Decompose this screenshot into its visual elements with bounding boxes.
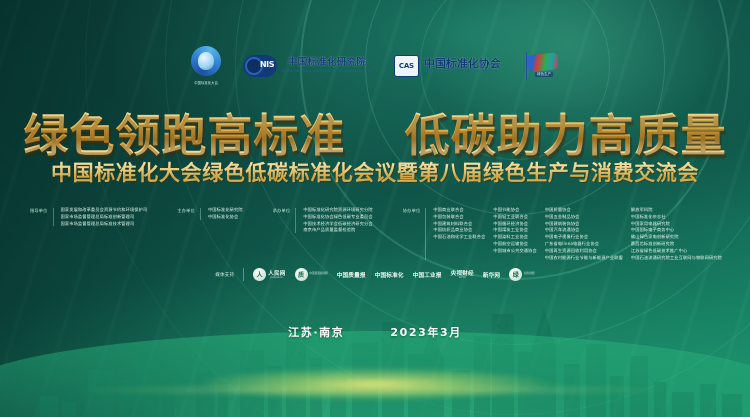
poster-subtitle: 中国标准化大会绿色低碳标准化会议暨第八届绿色生产与消费交流会	[0, 157, 750, 187]
cas-logo-cn: 中国标准化协会	[424, 58, 501, 70]
credit-item: 中国航空运输协会	[493, 241, 536, 248]
credit-item: 中国标准化研究院	[208, 207, 243, 214]
credit-group: 承办单位中国标准化研究院资源环境研究分院中国标准化协会绿色低碳专业委员会中国技术…	[273, 207, 373, 234]
credit-item: 南京市产品质量监督检验院	[303, 227, 372, 234]
media-divider	[243, 268, 244, 281]
media-logo-china-quality-daily: 中国质量报	[337, 271, 366, 279]
poster-date: 2023年3月	[390, 324, 461, 340]
credit-item: 中国石油和化学工业联合会	[433, 234, 485, 241]
credit-item: 中国石油流通研究院工业互联网与物联网研究院	[631, 255, 722, 262]
cas-logo-en: CHINA ASSOCIATION FOR STANDARDIZATION	[425, 70, 500, 73]
cnis-logo-cn: 中国标准化研究院	[288, 58, 366, 68]
credits-block: 指导单位国家发展和改革委员会资源节约和环境保护司国家市场监督管理总局标准创新管理…	[30, 207, 722, 262]
credit-item: 中国农村能源行业节能与新能源产业联盟	[545, 255, 623, 262]
poster-location: 江苏·南京	[288, 324, 344, 340]
credit-item: 中国节能协会	[493, 207, 536, 214]
credit-item: 中国城市公共交通协会	[493, 248, 536, 255]
credit-column: 解放军科院中国标准化杂志社中国家用电器研究院中国国标电子商务中心佛山绿色家电创新…	[631, 207, 722, 261]
media-logo-china-standardization: 中国标准化	[375, 271, 404, 279]
credit-item: 江苏省绿色低碳技术推广中心	[631, 248, 722, 255]
credit-item: 中国包装联合会	[433, 214, 485, 221]
credit-item: 国家市场监督管理总局标准创新管理司	[61, 214, 148, 221]
media-logo-cctv-finance: 央视财经CCTV	[451, 269, 474, 280]
credit-item: 中国标准化协会	[208, 214, 243, 221]
media-row: 媒体支持 人人民网people.cn质中国质量新闻网中国质量报中国标准化中国工业…	[0, 268, 750, 281]
credit-item: 赛西芯标准创新研究院	[631, 241, 722, 248]
credit-column: 中国标准化研究院中国标准化协会	[208, 207, 243, 221]
onis-mark-icon: NIS	[243, 55, 277, 77]
logo-row: 中国标准化大会 NIS 中国标准化研究院 CHINA NATIONAL INST…	[0, 46, 750, 85]
credit-item: 中国标准化协会绿色低碳专业委员会	[303, 214, 372, 221]
credit-column: 中国质量协会中国五金制品协会中国建筑装饰协会中国汽车流通协会中国电子视像行业协会…	[545, 207, 623, 261]
credit-column: 中国节能协会中国轻工业联合会中国循环经济协会中国煤炭工业协会中国染料工业协会中国…	[493, 207, 536, 261]
media-logo-green-consumption: 绿绿色消费	[509, 268, 534, 281]
credit-divider	[53, 208, 54, 226]
people-cn-subtext: people.cn	[271, 277, 284, 280]
media-logo-china-industry-news: 中国工业报	[413, 271, 442, 279]
cnis-logo-en: CHINA NATIONAL INSTITUTE OF STANDARDIZAT…	[282, 70, 372, 73]
credit-column: 国家发展和改革委员会资源节约和环境保护司国家市场监督管理总局标准创新管理司国家市…	[61, 207, 148, 227]
china-quality-daily-wordmark: 中国质量报	[337, 271, 366, 279]
credit-item: 中国染料工业协会	[493, 234, 536, 241]
poster-title-left: 绿色领跑高标准	[23, 109, 345, 162]
credit-group: 指导单位国家发展和改革委员会资源节约和环境保护司国家市场监督管理总局标准创新管理…	[30, 207, 147, 227]
credit-columns: 国家发展和改革委员会资源节约和环境保护司国家市场监督管理总局标准创新管理司国家市…	[61, 207, 148, 227]
credit-item: 广东省电línea电器行业协会	[545, 241, 623, 248]
china-industry-news-wordmark: 中国工业报	[413, 271, 442, 279]
horizon-glow-wide	[65, 385, 685, 395]
xinhua-net-wordmark: 新华网	[483, 271, 500, 279]
green-consumption-icon: 绿	[509, 268, 522, 281]
poster-title: 绿色领跑高标准 低碳助力高质量	[0, 99, 750, 164]
seal-logo: 中国标准化大会	[191, 46, 221, 85]
ground-curve	[0, 331, 750, 417]
china-standardization-wordmark: 中国标准化	[375, 271, 404, 279]
green-consumption-subtext: 绿色消费	[524, 273, 534, 276]
china-quality-news-icon: 质	[295, 268, 308, 281]
media-logo-china-quality-news: 质中国质量新闻网	[295, 268, 328, 281]
horizon-glow	[195, 367, 555, 401]
credit-item: 解放军科院	[631, 207, 722, 214]
cnis-logo: NIS 中国标准化研究院 CHINA NATIONAL INSTITUTE OF…	[243, 55, 372, 77]
people-cn-icon: 人	[253, 268, 266, 281]
credit-item: 国家发展和改革委员会资源节约和环境保护司	[61, 207, 148, 214]
city-skyline-silhouette	[0, 292, 750, 417]
credit-group-label: 承办单位	[273, 207, 291, 215]
credit-columns: 中国商业联合会中国包装联合会中国建筑材料联合会中国纺织品商业协会中国石油和化学工…	[433, 207, 722, 261]
credit-group-label: 协办单位	[403, 207, 421, 215]
green-flag-logo: 绿色生产	[523, 51, 559, 81]
credit-item: 佛山绿色家电创新研究院	[631, 234, 722, 241]
credit-group-label: 指导单位	[30, 207, 48, 215]
credit-column: 中国标准化研究院资源环境研究分院中国标准化协会绿色低碳专业委员会中国技术经济学会…	[303, 207, 372, 234]
credit-item: 中国五金制品协会	[545, 214, 623, 221]
credit-divider	[295, 208, 296, 233]
credit-item: 中国轻工业联合会	[493, 214, 536, 221]
credit-group: 协办单位中国商业联合会中国包装联合会中国建筑材料联合会中国纺织品商业协会中国石油…	[403, 207, 722, 261]
credit-item: 中国商业联合会	[433, 207, 485, 214]
cas-mark-text: CAS	[399, 62, 414, 70]
cctv-finance-subtext: CCTV	[459, 277, 466, 280]
conference-poster: 中国标准化大会 NIS 中国标准化研究院 CHINA NATIONAL INST…	[0, 0, 750, 417]
credit-column: 中国商业联合会中国包装联合会中国建筑材料联合会中国纺织品商业协会中国石油和化学工…	[433, 207, 485, 261]
seal-icon	[191, 46, 221, 76]
credit-item: 中国标准化研究院资源环境研究分院	[303, 207, 372, 214]
credit-item: 中国电子视像行业协会	[545, 234, 623, 241]
cas-mark-icon: CAS	[394, 55, 419, 77]
media-label: 媒体支持	[215, 272, 234, 278]
flag-icon: 绿色生产	[523, 51, 559, 81]
credit-item: 中国质量协会	[545, 207, 623, 214]
poster-footer: 江苏·南京 2023年3月	[0, 324, 750, 340]
poster-title-right: 低碳助力高质量	[405, 109, 727, 162]
credit-divider	[425, 208, 426, 260]
onis-mark-text: NIS	[260, 61, 274, 69]
cas-logo: CAS 中国标准化协会 CHINA ASSOCIATION FOR STANDA…	[394, 55, 501, 77]
china-quality-news-subtext: 中国质量新闻网	[310, 273, 328, 276]
credit-item: 国家市场监督管理总局标准技术管理司	[61, 221, 148, 228]
media-logo-xinhua-net: 新华网	[483, 271, 500, 279]
credit-group: 主办单位中国标准化研究院中国标准化协会	[177, 207, 242, 221]
media-logo-people-cn: 人人民网people.cn	[253, 268, 285, 281]
credit-divider	[200, 208, 201, 220]
credit-item: 中国再生资源回收利用协会	[545, 248, 623, 255]
flag-logo-caption: 绿色生产	[535, 72, 553, 77]
credit-item: 中国标准化杂志社	[631, 214, 722, 221]
credit-columns: 中国标准化研究院资源环境研究分院中国标准化协会绿色低碳专业委员会中国技术经济学会…	[303, 207, 372, 234]
credit-columns: 中国标准化研究院中国标准化协会	[208, 207, 243, 221]
seal-logo-caption: 中国标准化大会	[194, 82, 218, 85]
credit-group-label: 主办单位	[177, 207, 195, 215]
